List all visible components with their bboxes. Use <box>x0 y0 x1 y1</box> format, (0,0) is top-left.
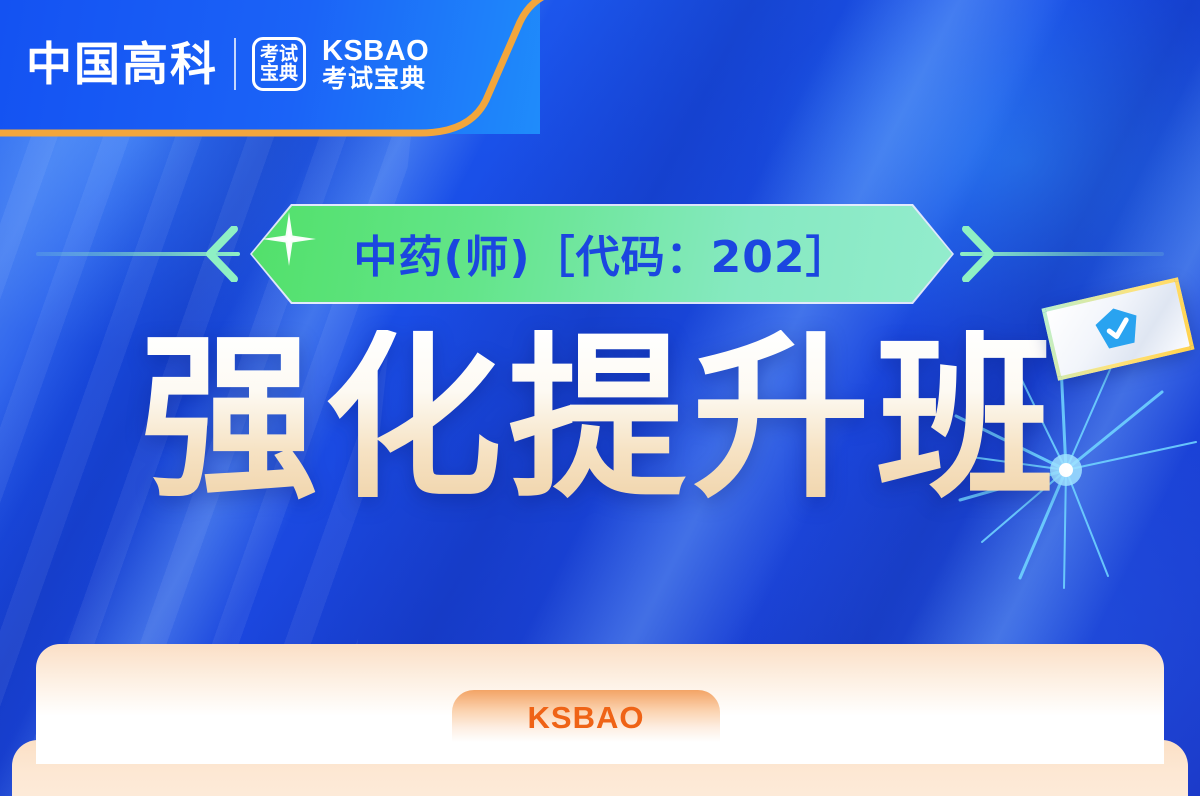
brand-name-zh: 考试宝典 <box>322 66 429 92</box>
vertical-divider-icon <box>234 38 236 90</box>
brand-name-cn: 中国高科 <box>26 41 218 87</box>
chevron-right-icon <box>962 226 996 282</box>
ksbao-tab[interactable]: KSBAO <box>452 690 720 742</box>
brand-logo[interactable]: 中国高科 考试 宝典 KSBAO 考试宝典 <box>26 36 429 92</box>
seal-line-2: 宝典 <box>260 64 298 83</box>
chevron-left-icon <box>204 226 238 282</box>
brand-text-block: KSBAO 考试宝典 <box>322 36 429 92</box>
ksbao-seal-icon: 考试 宝典 <box>252 37 306 91</box>
subject-ribbon-group: 中药(师)［代码：202］ <box>0 206 1200 302</box>
promo-banner: 中国高科 考试 宝典 KSBAO 考试宝典 中药(师)［代码：202］ <box>0 0 1200 796</box>
brand-name-en: KSBAO <box>322 36 429 66</box>
verified-gem-check-icon <box>1090 301 1145 356</box>
ksbao-tab-label: KSBAO <box>528 700 645 736</box>
subject-label: 中药(师)［代码：202］ <box>353 221 850 285</box>
subject-ribbon[interactable]: 中药(师)［代码：202］ <box>252 206 952 302</box>
